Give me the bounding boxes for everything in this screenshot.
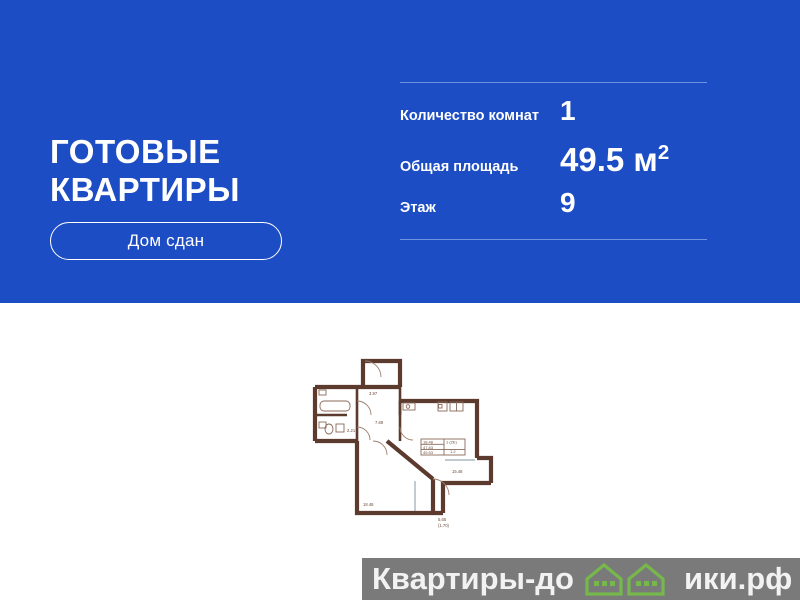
house-left-window-3 bbox=[610, 581, 615, 586]
house-right-window-1 bbox=[636, 581, 641, 586]
plan-label-balcony-reduced: (1.70) bbox=[438, 523, 450, 528]
plan-label-wc: 2.21 bbox=[347, 428, 356, 433]
plan-stamp-total-area: 49.53 bbox=[423, 450, 434, 455]
plan-fixture-stove bbox=[438, 402, 447, 411]
watermark-text-before: Квартиры-до bbox=[372, 558, 574, 600]
plan-wall-entry bbox=[363, 361, 400, 387]
watermark-bar: Квартиры-до ики.рф bbox=[362, 558, 800, 600]
page-title: ГОТОВЫЕ КВАРТИРЫ bbox=[50, 133, 350, 209]
house-left-window-2 bbox=[602, 581, 607, 586]
spec-value-total-area-superscript: 2 bbox=[658, 141, 669, 164]
apartment-listing-card: ГОТОВЫЕ КВАРТИРЫ Дом сдан Количество ком… bbox=[0, 0, 800, 600]
spec-label-rooms: Количество комнат bbox=[400, 108, 560, 125]
plan-wall-loggia bbox=[443, 483, 491, 513]
house-right-window-3 bbox=[652, 581, 657, 586]
plan-stamp-index: 1.2 bbox=[450, 449, 456, 454]
watermark-text-after: ики.рф bbox=[684, 558, 792, 600]
spec-value-rooms: 1 bbox=[560, 97, 576, 125]
plan-fixture-stove-burner bbox=[439, 405, 443, 409]
spec-label-floor: Этаж bbox=[400, 200, 560, 217]
plan-fixture-kitchen-sink-bowl bbox=[406, 405, 410, 409]
status-badge-house-delivered[interactable]: Дом сдан bbox=[50, 222, 282, 260]
plan-door-bath bbox=[357, 401, 371, 415]
spec-value-floor: 9 bbox=[560, 189, 576, 217]
specs-rows: Количество комнат 1 Общая площадь 49.5 м… bbox=[400, 83, 707, 239]
plan-door-living bbox=[373, 441, 387, 455]
plan-door-wc bbox=[357, 427, 370, 440]
floor-plan-area: .w { fill: none; stroke: #5c3a2e; stroke… bbox=[0, 303, 800, 600]
specs-divider-bottom bbox=[400, 239, 707, 240]
spec-label-total-area: Общая площадь bbox=[400, 159, 560, 176]
plan-fixture-bathtub bbox=[320, 401, 350, 411]
house-left-outline bbox=[587, 565, 621, 594]
spec-row-total-area: Общая площадь 49.5 м2 bbox=[400, 143, 707, 177]
plan-door-entry bbox=[365, 361, 381, 377]
plan-fixture-sink-bath bbox=[319, 390, 326, 395]
house-left-window-1 bbox=[594, 581, 599, 586]
spec-value-total-area-number: 49.5 м bbox=[560, 141, 658, 178]
plan-door-kitchen bbox=[400, 427, 413, 440]
plan-info-stamp: 18.48 47.83 49.53 1 (2Е) 1.2 bbox=[421, 439, 465, 455]
spec-row-rooms: Количество комнат 1 bbox=[400, 97, 707, 131]
title-line-1: ГОТОВЫЕ bbox=[50, 133, 350, 171]
specs-panel: Количество комнат 1 Общая площадь 49.5 м… bbox=[400, 82, 707, 240]
plan-stamp-living-area: 18.48 bbox=[423, 440, 434, 445]
spec-value-total-area: 49.5 м2 bbox=[560, 143, 669, 176]
plan-label-hallway: 7.69 bbox=[375, 420, 384, 425]
plan-label-kitchen: 15.48 bbox=[452, 469, 463, 474]
plan-label-balcony: 5.65 bbox=[438, 517, 447, 522]
house-right-window-2 bbox=[644, 581, 649, 586]
floor-plan-drawing[interactable]: .w { fill: none; stroke: #5c3a2e; stroke… bbox=[295, 343, 510, 553]
plan-fixture-kitchen-sink bbox=[403, 403, 415, 410]
spec-row-floor: Этаж 9 bbox=[400, 189, 707, 223]
header-banner: ГОТОВЫЕ КВАРТИРЫ Дом сдан Количество ком… bbox=[0, 0, 800, 303]
two-green-houses-icon bbox=[584, 561, 668, 597]
house-right-outline bbox=[629, 565, 663, 594]
plan-label-bathroom: 3.97 bbox=[369, 391, 378, 396]
plan-wall-right-step bbox=[477, 458, 491, 483]
plan-label-living: 18.48 bbox=[363, 502, 374, 507]
plan-stamp-type: 1 (2Е) bbox=[446, 440, 458, 445]
title-line-2: КВАРТИРЫ bbox=[50, 171, 350, 209]
status-badge-label: Дом сдан bbox=[128, 231, 204, 251]
plan-fixture-washer bbox=[336, 424, 344, 432]
